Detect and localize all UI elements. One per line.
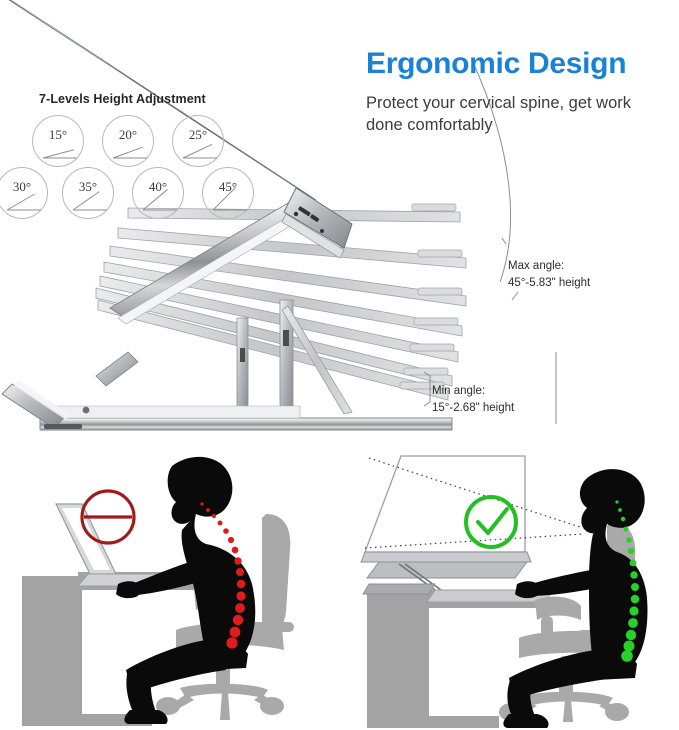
angle-wedge-icon [173, 116, 225, 168]
person-bad [116, 457, 255, 724]
spine-dot [200, 502, 203, 505]
max-angle-line2: 45°-5.83" height [508, 275, 590, 292]
angle-wedge-icon [33, 116, 85, 168]
spine-dot [206, 508, 210, 512]
min-angle-line2: 15°-2.68" height [432, 400, 514, 417]
spine-dot [624, 641, 635, 652]
spine-dot [212, 514, 216, 518]
spine-dot [235, 603, 245, 613]
spine-dot [226, 637, 237, 648]
min-angle-line1: Min angle: [432, 385, 485, 397]
spine-dot [236, 568, 244, 576]
angle-wedge-icon [63, 168, 115, 220]
angle-badge-25[interactable]: 25° [172, 115, 224, 167]
angle-badge-30[interactable]: 30° [0, 167, 48, 219]
spine-dot [629, 606, 638, 615]
spine-dot [626, 630, 636, 640]
angle-wedge-icon [133, 168, 185, 220]
spine-dot [618, 508, 622, 512]
spine-dot [631, 583, 639, 591]
angle-wedge-icon [103, 116, 155, 168]
page-subtitle: Protect your cervical spine, get work do… [366, 92, 664, 137]
max-angle-annotation: Max angle: 45°-5.83" height [508, 258, 590, 291]
infographic-canvas: Ergonomic Design Protect your cervical s… [0, 0, 679, 730]
levels-caption: 7-Levels Height Adjustment [39, 92, 206, 106]
spine-dot [624, 527, 629, 532]
spine-dot [218, 521, 223, 526]
page-title: Ergonomic Design [366, 48, 666, 80]
spine-dot [228, 537, 234, 543]
spine-dot [621, 650, 633, 662]
spine-dot [626, 537, 632, 543]
angle-badge-35[interactable]: 35° [62, 167, 114, 219]
spine-dot [234, 557, 241, 564]
angle-badge-20[interactable]: 20° [102, 115, 154, 167]
spine-dot [223, 528, 229, 534]
bad-posture-panel [0, 444, 340, 730]
spine-dot [236, 591, 245, 600]
good-posture-panel [339, 444, 679, 730]
headline-block: Ergonomic Design Protect your cervical s… [366, 48, 666, 136]
spine-dot [621, 517, 625, 521]
laptop-good [361, 456, 553, 602]
spine-dot [232, 547, 239, 554]
angle-badge-15[interactable]: 15° [32, 115, 84, 167]
spine-dot [233, 615, 243, 625]
angle-badge-45[interactable]: 45° [202, 167, 254, 219]
spine-dot [230, 627, 241, 638]
spine-dot [615, 500, 618, 503]
spine-dot [237, 580, 246, 589]
spine-dot [630, 571, 637, 578]
max-angle-line1: Max angle: [508, 260, 564, 272]
spine-dot [628, 548, 634, 554]
spine-dot [631, 595, 640, 604]
angle-wedge-icon [203, 168, 255, 220]
min-angle-annotation: Min angle: 15°-2.68" height [432, 383, 514, 416]
angle-badge-40[interactable]: 40° [132, 167, 184, 219]
no-symbol-icon [82, 491, 134, 543]
spine-dot [628, 618, 638, 628]
angle-wedge-icon [0, 168, 49, 220]
spine-dot [630, 560, 637, 567]
